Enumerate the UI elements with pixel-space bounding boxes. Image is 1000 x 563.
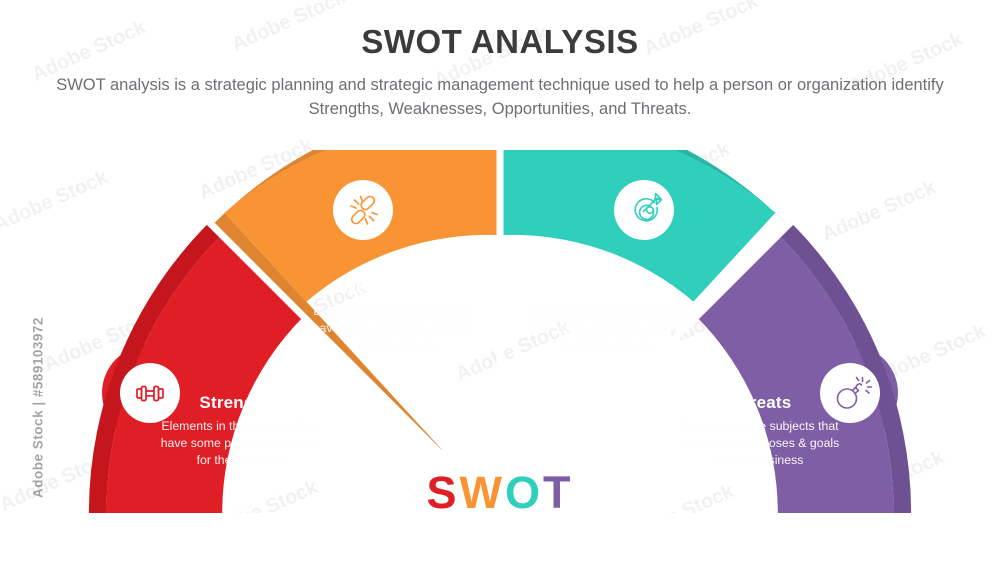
swot-letter-s: S	[426, 470, 459, 515]
strengths-badge-circle	[120, 363, 180, 423]
weaknesses-badge-circle	[333, 180, 393, 240]
strengths-icon-badge[interactable]	[120, 363, 180, 423]
header: SWOT ANALYSIS SWOT analysis is a strateg…	[0, 24, 1000, 122]
opportunities-icon-badge[interactable]	[614, 180, 674, 240]
baseline-mask	[0, 513, 1000, 563]
page-title: SWOT ANALYSIS	[0, 24, 1000, 60]
swot-letter-w: W	[460, 470, 505, 515]
page-subtitle: SWOT analysis is a strategic planning an…	[50, 74, 950, 122]
swot-infographic-canvas: Adobe Stock Adobe Stock Adobe Stock Adob…	[0, 0, 1000, 563]
threats-icon-badge[interactable]	[820, 363, 880, 423]
threats-badge-circle	[820, 363, 880, 423]
swot-wordmark: SWOT	[0, 470, 1000, 515]
weaknesses-icon-badge[interactable]	[333, 180, 393, 240]
swot-letter-o: O	[505, 470, 543, 515]
swot-letter-t: T	[543, 470, 574, 515]
